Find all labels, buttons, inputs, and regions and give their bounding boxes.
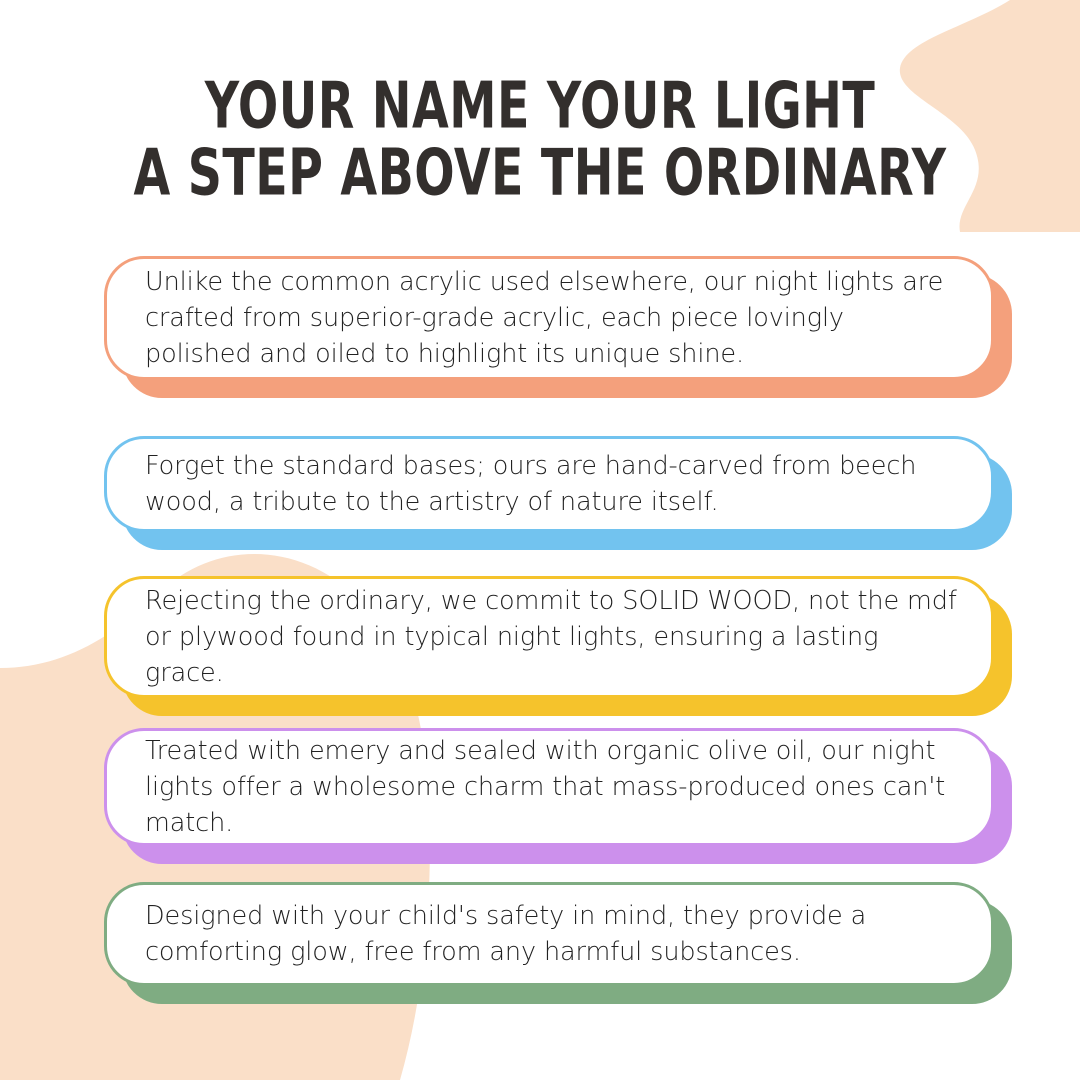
page-title: YOUR NAME YOUR LIGHT A STEP ABOVE THE OR… xyxy=(0,72,1080,206)
card-text: Unlike the common acrylic used elsewhere… xyxy=(107,264,991,372)
card-body: Rejecting the ordinary, we commit to SOL… xyxy=(104,576,994,698)
card-body: Designed with your child's safety in min… xyxy=(104,882,994,986)
title-line-2: A STEP ABOVE THE ORDINARY xyxy=(65,133,1015,212)
card-text: Forget the standard bases; ours are hand… xyxy=(107,448,991,520)
card-text: Rejecting the ordinary, we commit to SOL… xyxy=(107,583,991,691)
card-body: Treated with emery and sealed with organ… xyxy=(104,728,994,846)
poster-canvas: YOUR NAME YOUR LIGHT A STEP ABOVE THE OR… xyxy=(0,0,1080,1080)
card-text: Designed with your child's safety in min… xyxy=(107,898,991,970)
card-body: Unlike the common acrylic used elsewhere… xyxy=(104,256,994,380)
card-text: Treated with emery and sealed with organ… xyxy=(107,733,991,841)
card-body: Forget the standard bases; ours are hand… xyxy=(104,436,994,532)
